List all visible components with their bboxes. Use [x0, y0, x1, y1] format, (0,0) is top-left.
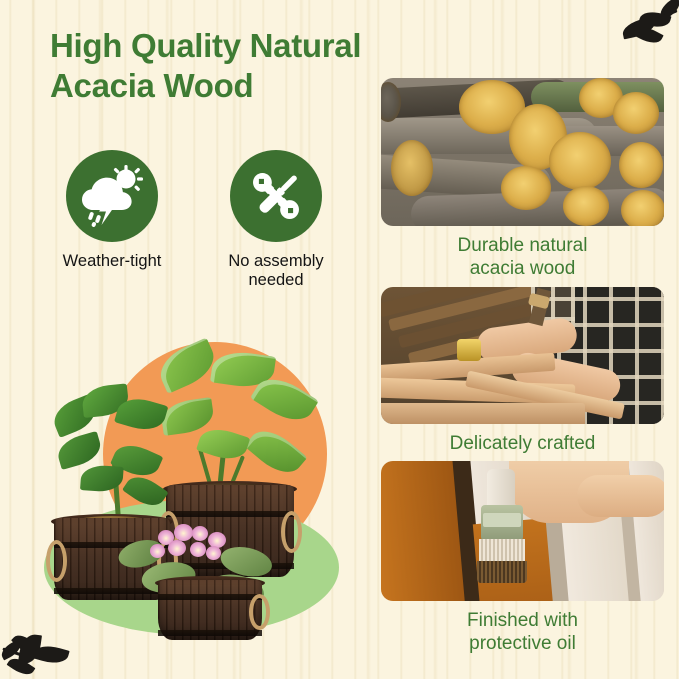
feature-weather-tight: Weather-tight [44, 150, 180, 291]
card-durable-acacia-wood: Durable natural acacia wood [381, 78, 664, 281]
card-protective-oil: Finished with protective oil [381, 461, 664, 656]
brush-applying-protective-oil-photo [381, 461, 664, 601]
feature-list: Weather-tight [44, 150, 344, 291]
hero-product-image [18, 330, 363, 655]
wrench-screwdriver-icon [230, 150, 322, 242]
page-title-line1: High Quality Natural [50, 26, 380, 66]
card-caption-crafted: Delicately crafted [381, 433, 664, 456]
card-caption-durable: Durable natural acacia wood [381, 235, 664, 281]
feature-card-list: Durable natural acacia wood [381, 78, 664, 662]
feature-weather-tight-label: Weather-tight [44, 252, 180, 271]
feature-no-assembly: No assembly needed [208, 150, 344, 291]
leaf-sprig-bottom-left [0, 616, 80, 678]
leaf-sprig-top-right [612, 2, 676, 58]
stacked-acacia-logs-photo [381, 78, 664, 226]
planter-pot-small [158, 580, 262, 642]
carpenter-crafting-wood-photo [381, 287, 664, 424]
card-delicately-crafted: Delicately crafted [381, 287, 664, 456]
page-title: High Quality Natural Acacia Wood [50, 26, 380, 107]
storm-cloud-sun-icon [66, 150, 158, 242]
infographic-page: High Quality Natural Acacia Wood [0, 0, 679, 679]
feature-no-assembly-label: No assembly needed [208, 252, 344, 291]
card-caption-oil: Finished with protective oil [381, 610, 664, 656]
page-title-line2: Acacia Wood [50, 66, 380, 106]
